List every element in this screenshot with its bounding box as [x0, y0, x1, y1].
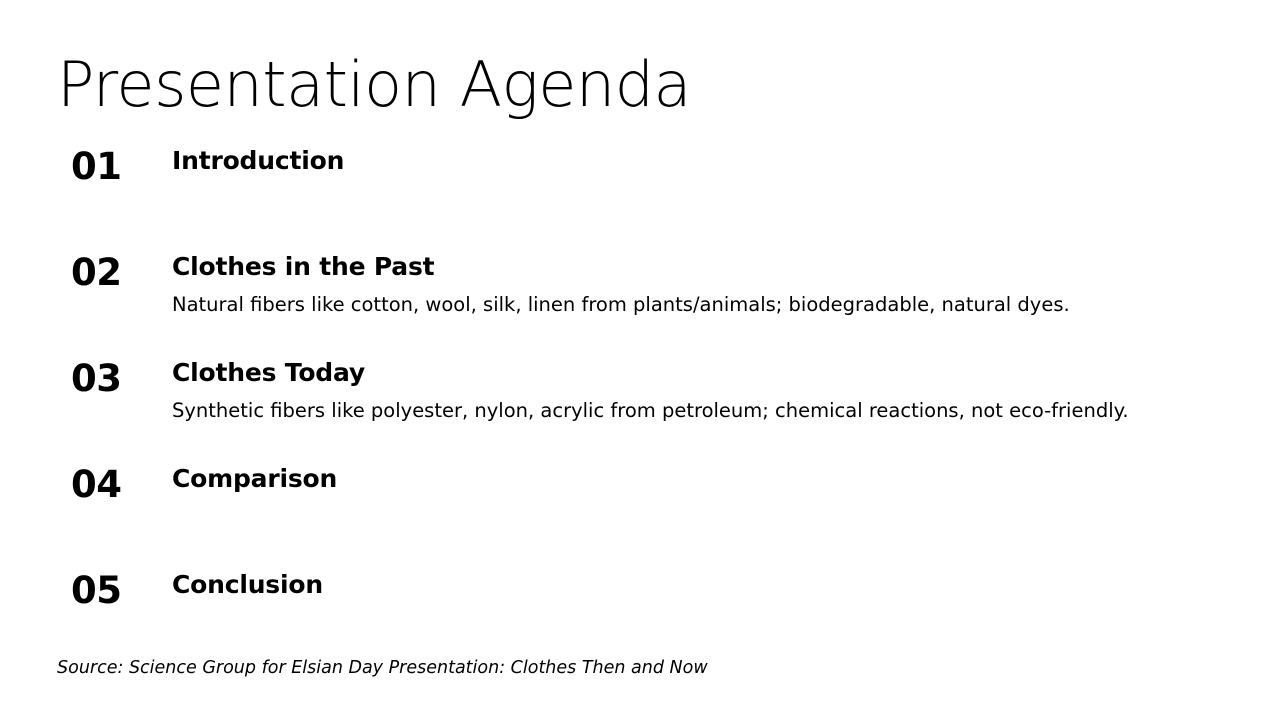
- list-item: 01 Introduction: [0, 142, 1280, 248]
- source-note: Source: Science Group for Elsian Day Pre…: [57, 656, 708, 680]
- list-item: 02 Clothes in the Past Natural fibers li…: [0, 248, 1280, 354]
- agenda-item-heading: Clothes Today: [172, 354, 1220, 392]
- agenda-item-body: Comparison: [172, 460, 1220, 498]
- agenda-item-number: 01: [71, 145, 122, 189]
- agenda-item-heading: Clothes in the Past: [172, 248, 1220, 286]
- agenda-item-number: 03: [71, 357, 122, 401]
- agenda-item-description: Natural fibers like cotton, wool, silk, …: [172, 291, 1220, 319]
- agenda-item-heading: Introduction: [172, 142, 1220, 180]
- agenda-list: 01 Introduction 02 Clothes in the Past N…: [0, 142, 1280, 672]
- page-title: Presentation Agenda: [57, 54, 691, 116]
- agenda-item-body: Clothes in the Past Natural fibers like …: [172, 248, 1220, 319]
- agenda-item-description: Synthetic fibers like polyester, nylon, …: [172, 397, 1220, 425]
- list-item: 04 Comparison: [0, 460, 1280, 566]
- agenda-item-heading: Conclusion: [172, 566, 1220, 604]
- agenda-item-number: 04: [71, 463, 122, 507]
- agenda-item-body: Introduction: [172, 142, 1220, 180]
- agenda-item-body: Clothes Today Synthetic fibers like poly…: [172, 354, 1220, 425]
- agenda-item-heading: Comparison: [172, 460, 1220, 498]
- agenda-item-body: Conclusion: [172, 566, 1220, 604]
- agenda-slide: Presentation Agenda 01 Introduction 02 C…: [0, 0, 1280, 720]
- agenda-item-number: 05: [71, 569, 122, 613]
- list-item: 03 Clothes Today Synthetic fibers like p…: [0, 354, 1280, 460]
- agenda-item-number: 02: [71, 251, 122, 295]
